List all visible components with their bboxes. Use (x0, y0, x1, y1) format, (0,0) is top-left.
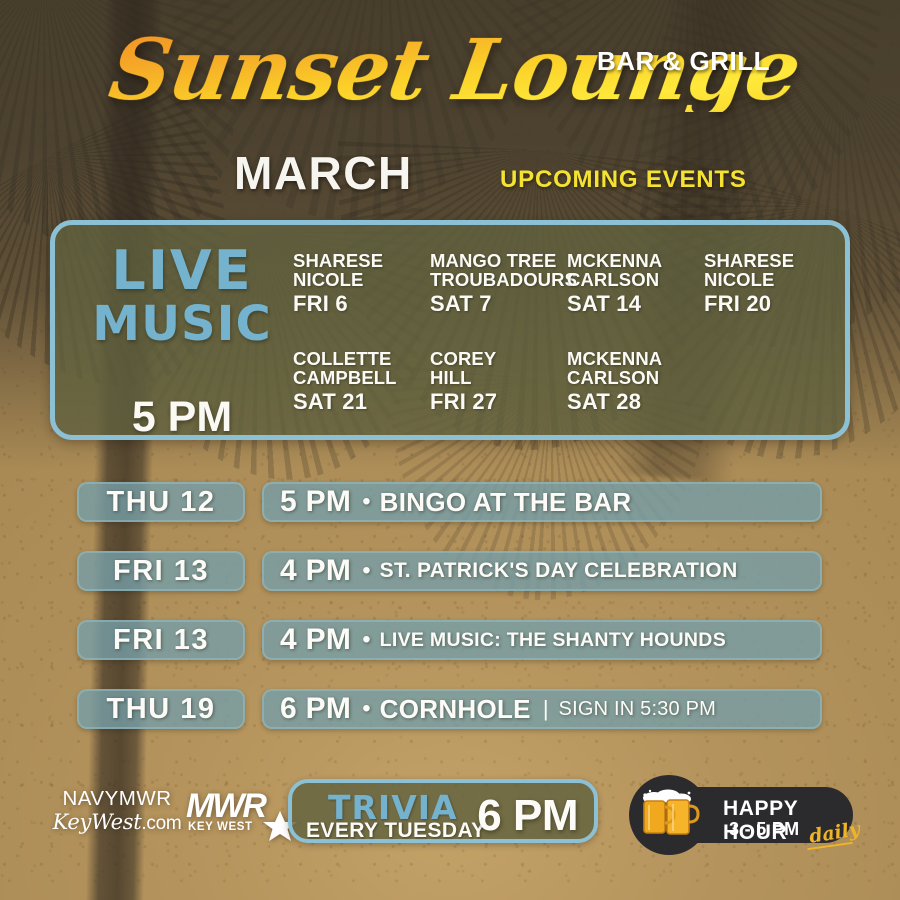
performer-entry-empty (704, 349, 841, 415)
live-music-time: 5 PM (77, 393, 287, 440)
event-time: 4 PM (280, 623, 351, 657)
event-day-badge: THU 19 (77, 689, 245, 729)
event-list: THU 12 5 PM • BINGO AT THE BAR FRI 13 4 … (0, 478, 900, 754)
performer-date: SAT 7 (430, 291, 567, 317)
event-row: FRI 13 4 PM • LIVE MUSIC: THE SHANTY HOU… (0, 616, 900, 685)
event-title: LIVE MUSIC: THE SHANTY HOUNDS (380, 629, 726, 652)
event-day-badge: FRI 13 (77, 620, 245, 660)
event-time: 4 PM (280, 554, 351, 588)
live-music-heading-line2: MUSIC (77, 301, 287, 347)
event-day-label: THU 12 (107, 486, 216, 519)
performer-date: FRI 20 (704, 291, 841, 317)
performer-entry: COREY HILL FRI 27 (430, 349, 567, 415)
performer-name-line1: MCKENNA (567, 349, 704, 368)
trivia-frequency: EVERY TUESDAY (306, 819, 486, 843)
navymwr-wordmark: NAVYMWR (52, 789, 182, 810)
performer-name-line2: TROUBADOURS (430, 270, 567, 289)
event-title: BINGO AT THE BAR (380, 487, 632, 518)
performer-entry: MANGO TREE TROUBADOURS SAT 7 (430, 251, 567, 317)
happy-hour-badge: HAPPY HOUR 3 - 5 PM daily (629, 775, 853, 855)
trivia-time: 6 PM (477, 791, 578, 841)
event-row: THU 12 5 PM • BINGO AT THE BAR (0, 478, 900, 547)
event-row: THU 19 6 PM • CORNHOLE | SIGN IN 5:30 PM (0, 685, 900, 754)
event-title: ST. PATRICK'S DAY CELEBRATION (380, 559, 738, 583)
event-day-badge: THU 12 (77, 482, 245, 522)
performer-entry: COLLETTE CAMPBELL SAT 21 (293, 349, 430, 415)
event-detail-bar: 5 PM • BINGO AT THE BAR (262, 482, 822, 522)
event-time: 6 PM (280, 692, 351, 726)
event-detail-bar: 6 PM • CORNHOLE | SIGN IN 5:30 PM (262, 689, 822, 729)
event-row: FRI 13 4 PM • ST. PATRICK'S DAY CELEBRAT… (0, 547, 900, 616)
event-note: SIGN IN 5:30 PM (559, 698, 717, 721)
live-music-heading-line1: LIVE (111, 239, 252, 302)
trivia-badge: TRIVIA EVERY TUESDAY 6 PM (288, 779, 598, 843)
navymwr-keywest-logo[interactable]: NAVYMWR KeyWest.com (52, 789, 182, 833)
performer-entry: MCKENNA CARLSON SAT 28 (567, 349, 704, 415)
performer-entry: SHARESE NICOLE FRI 6 (293, 251, 430, 317)
poster-canvas: Sunset Lounge BAR & GRILL MARCH UPCOMING… (0, 0, 900, 900)
bullet-dot-icon: • (362, 628, 370, 652)
event-day-label: FRI 13 (113, 624, 209, 657)
event-separator: | (543, 696, 549, 722)
performer-name-line2: HILL (430, 368, 567, 387)
footer: NAVYMWR KeyWest.com MWR KEY WEST TRIVIA … (0, 775, 900, 875)
happy-hour-time: 3 - 5 PM (729, 819, 799, 840)
performer-name-line1: COREY (430, 349, 567, 368)
performer-date: SAT 21 (293, 389, 430, 415)
event-title: CORNHOLE (380, 694, 531, 725)
event-detail-bar: 4 PM • LIVE MUSIC: THE SHANTY HOUNDS (262, 620, 822, 660)
performer-date: SAT 14 (567, 291, 704, 317)
upcoming-events-label: UPCOMING EVENTS (500, 166, 747, 194)
event-day-label: THU 19 (107, 693, 216, 726)
performer-name-line2: CARLSON (567, 270, 704, 289)
brand-logo: Sunset Lounge (0, 28, 900, 138)
navymwr-domain-suffix: .com (141, 813, 181, 834)
mwr-location-label: KEY WEST (188, 821, 253, 833)
performer-name-line1: MCKENNA (567, 251, 704, 270)
performer-name-line1: SHARESE (293, 251, 430, 270)
event-detail-bar: 4 PM • ST. PATRICK'S DAY CELEBRATION (262, 551, 822, 591)
live-music-performer-grid: SHARESE NICOLE FRI 6 MANGO TREE TROUBADO… (293, 251, 841, 421)
mwr-wordmark: MWR (186, 789, 265, 823)
performer-name-line1: MANGO TREE (430, 251, 567, 270)
performer-name-line2: NICOLE (293, 270, 430, 289)
performer-name-line1: COLLETTE (293, 349, 430, 368)
performer-name-line2: CAMPBELL (293, 368, 430, 387)
performer-name-line2: CARLSON (567, 368, 704, 387)
event-day-label: FRI 13 (113, 555, 209, 588)
performer-date: SAT 28 (567, 389, 704, 415)
performer-name-line2: NICOLE (704, 270, 841, 289)
performer-date: FRI 27 (430, 389, 567, 415)
bullet-dot-icon: • (362, 490, 370, 514)
performer-entry: SHARESE NICOLE FRI 20 (704, 251, 841, 317)
bullet-dot-icon: • (362, 697, 370, 721)
bullet-dot-icon: • (362, 559, 370, 583)
navymwr-keywest-script: KeyWest (53, 810, 142, 834)
live-music-heading: LIVE MUSIC (77, 245, 287, 347)
live-music-panel: LIVE MUSIC 5 PM SHARESE NICOLE FRI 6 (50, 220, 850, 440)
performer-name-line1: SHARESE (704, 251, 841, 270)
page-title-month: MARCH (234, 146, 413, 200)
performer-entry: MCKENNA CARLSON SAT 14 (567, 251, 704, 317)
performer-date: FRI 6 (293, 291, 430, 317)
event-time: 5 PM (280, 485, 351, 519)
event-day-badge: FRI 13 (77, 551, 245, 591)
beer-mugs-icon (637, 789, 701, 843)
brand-tagline: BAR & GRILL (597, 46, 770, 77)
